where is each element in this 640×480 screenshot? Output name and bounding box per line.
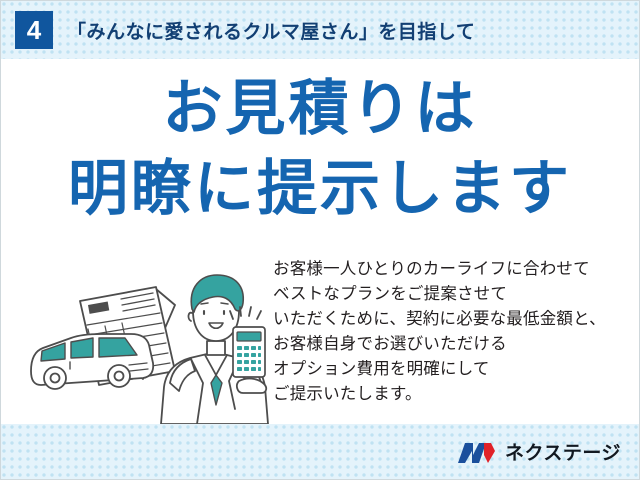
promotional-poster: 4 「みんなに愛されるクルマ屋さん」を目指して お見積りは 明瞭に提示します [0,0,640,480]
brand-logo: ネクステージ [457,441,621,465]
body-copy: お客様一人ひとりのカーライフに合わせて ベストなプランをご提案させて いただくた… [273,257,633,407]
header: 4 「みんなに愛されるクルマ屋さん」を目指して [1,1,639,59]
salesman-ear [188,313,192,321]
step-number-badge: 4 [15,11,53,49]
salesman-neck [207,341,225,355]
illustration-artwork [25,259,275,424]
body-copy-line: ご提示いたします。 [273,382,633,407]
calculator [233,327,265,377]
body-copy-line: オプション費用を明確にして [273,357,633,382]
header-title: 「みんなに愛されるクルマ屋さん」を目指して [67,17,475,44]
body-copy-line: お客様一人ひとりのカーライフに合わせて [273,257,633,282]
body-copy-line: お客様自身でお選びいただける [273,332,633,357]
nextage-n-mark-icon [457,441,497,465]
headline-line-2: 明瞭に提示します [1,159,639,219]
body-copy-line: いただくために、契約に必要な最低金額と、 [273,307,633,332]
body-copy-line: ベストなプランをご提案させて [273,282,633,307]
headline: お見積りは 明瞭に提示します [1,79,639,219]
illustration [25,259,275,424]
headline-line-1: お見積りは [1,79,639,139]
brand-name: ネクステージ [505,444,621,463]
calculator-display [237,332,261,341]
